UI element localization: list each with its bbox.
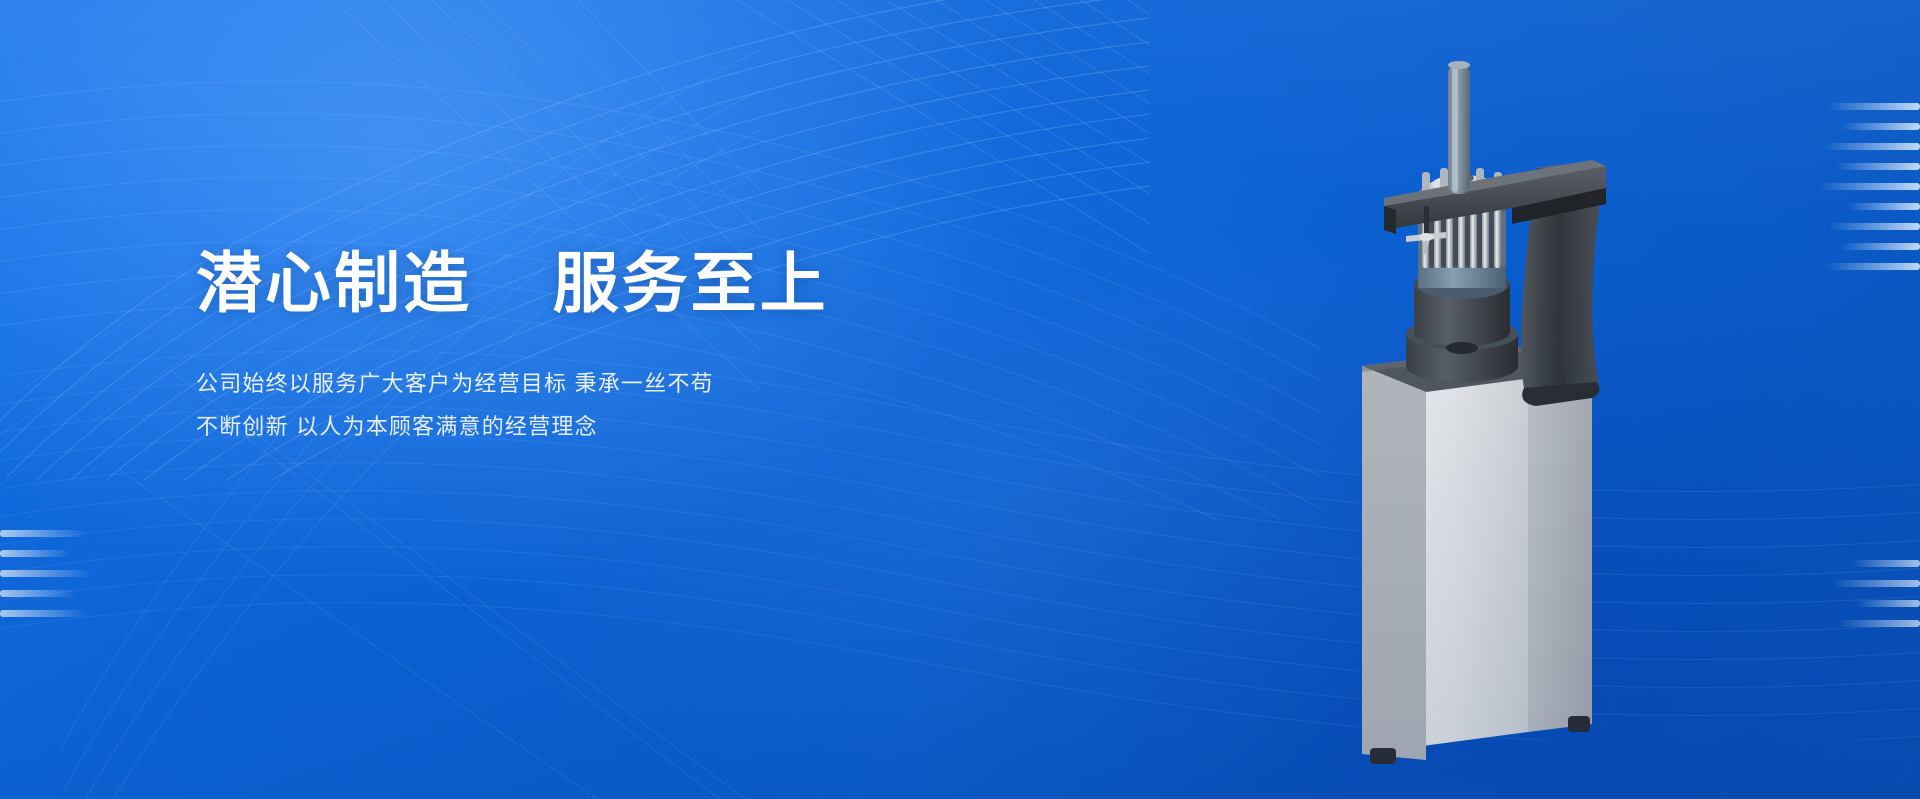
hero-banner: 潜心制造 服务至上 公司始终以服务广大客户为经营目标 秉承一丝不苟 不断创新 以…: [0, 0, 1920, 799]
vertical-guide-rod: [1448, 61, 1470, 194]
subtitle-line-2: 不断创新 以人为本顾客满意的经营理念: [196, 406, 956, 449]
tick-bars-right-bottom: [1832, 560, 1920, 627]
cabinet-pedestal: [1362, 346, 1592, 764]
headline-part1: 潜心制造: [196, 246, 472, 320]
page-title: 潜心制造 服务至上: [196, 248, 956, 319]
hero-copy-block: 潜心制造 服务至上 公司始终以服务广大客户为经营目标 秉承一丝不苟 不断创新 以…: [196, 248, 956, 449]
subtitle-line-1: 公司始终以服务广大客户为经营目标 秉承一丝不苟: [196, 363, 956, 406]
tick-bars-left: [0, 530, 92, 617]
hydraulic-press-machine-image: [1340, 48, 1640, 788]
tick-bars-right-top: [1820, 103, 1920, 270]
headline-part2: 服务至上: [553, 246, 829, 320]
hero-subtitle: 公司始终以服务广大客户为经营目标 秉承一丝不苟 不断创新 以人为本顾客满意的经营…: [196, 363, 956, 449]
